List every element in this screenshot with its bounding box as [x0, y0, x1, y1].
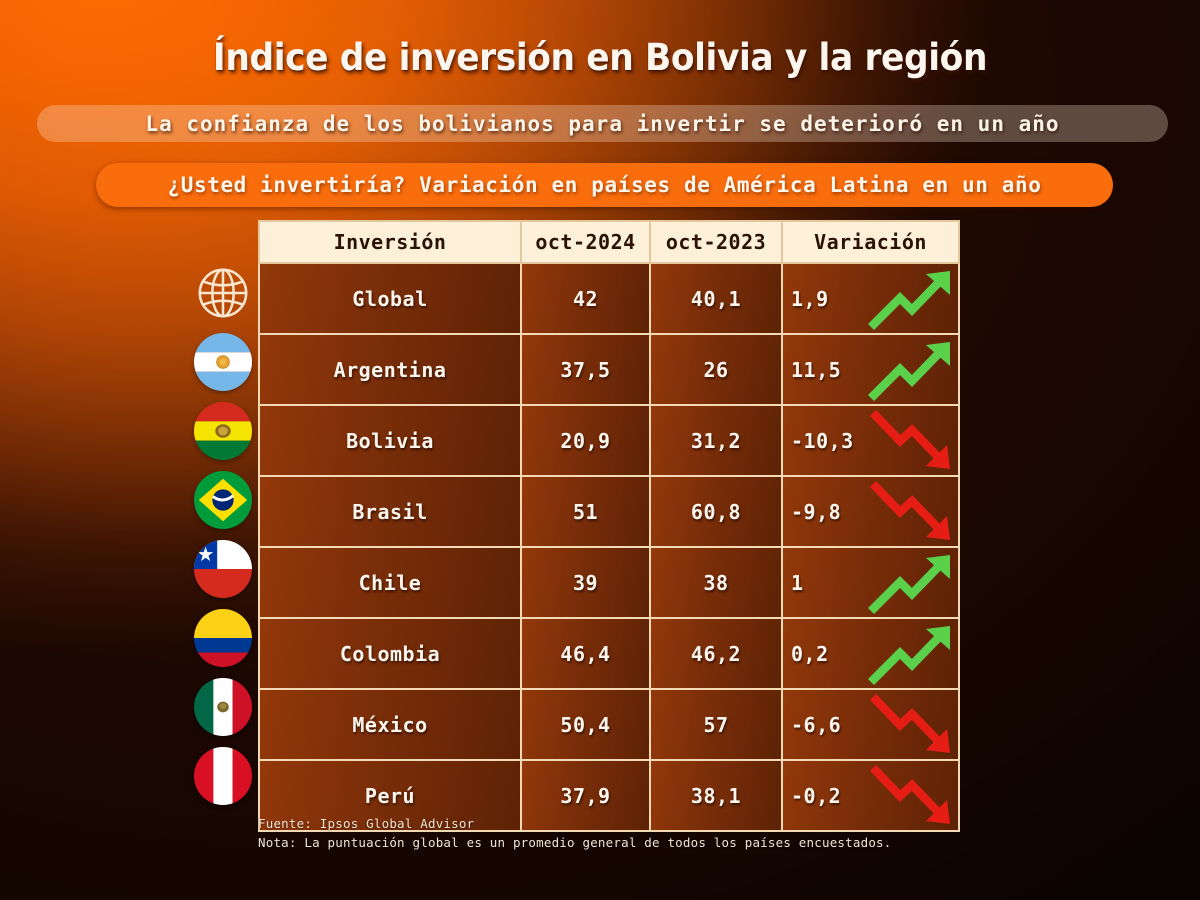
flag-bolivia-icon — [194, 402, 252, 460]
cell-country-name: Argentina — [259, 334, 521, 405]
trend-up-arrow — [866, 268, 956, 330]
cell-variation: 0,2 — [782, 618, 959, 689]
column-header-oct-2023: oct-2023 — [650, 221, 782, 263]
table-row: Argentina37,52611,5 — [259, 334, 959, 405]
flag-mexico-icon — [194, 678, 252, 736]
flag-brasil-icon — [194, 471, 252, 529]
cell-value-oct-2023: 57 — [650, 689, 782, 760]
trend-up-arrow — [866, 339, 956, 401]
cell-country-name: Colombia — [259, 618, 521, 689]
cell-value-oct-2023: 38 — [650, 547, 782, 618]
table-header: Inversión oct-2024 oct-2023 Variación — [259, 221, 959, 263]
flag-chile-icon — [194, 540, 252, 598]
trend-down-arrow — [866, 481, 956, 543]
cell-country-name: Bolivia — [259, 405, 521, 476]
flag-column — [189, 258, 257, 810]
flag-slot — [189, 258, 257, 327]
flag-slot — [189, 327, 257, 396]
variation-content: -10,3 — [791, 406, 958, 475]
trend-up-arrow — [866, 623, 956, 685]
cell-value-oct-2024: 51 — [521, 476, 650, 547]
infographic-canvas: Índice de inversión en Bolivia y la regi… — [0, 0, 1200, 900]
trend-down-icon — [866, 410, 956, 472]
cell-value-oct-2024: 46,4 — [521, 618, 650, 689]
cell-variation: 1,9 — [782, 263, 959, 334]
cell-value-oct-2024: 20,9 — [521, 405, 650, 476]
variation-content: -9,8 — [791, 477, 958, 546]
cell-country-name: Global — [259, 263, 521, 334]
variation-content: 11,5 — [791, 335, 958, 404]
variation-value: -0,2 — [791, 784, 841, 808]
cell-value-oct-2024: 39 — [521, 547, 650, 618]
trend-up-icon — [866, 552, 956, 614]
trend-up-icon — [866, 339, 956, 401]
flag-slot — [189, 672, 257, 741]
cell-value-oct-2023: 31,2 — [650, 405, 782, 476]
variation-content: 1 — [791, 548, 958, 617]
variation-value: 0,2 — [791, 642, 829, 666]
trend-up-icon — [866, 268, 956, 330]
column-header-oct-2024: oct-2024 — [521, 221, 650, 263]
flag-argentina-icon — [194, 333, 252, 391]
investment-table: Inversión oct-2024 oct-2023 Variación Gl… — [258, 220, 960, 832]
variation-value: -9,8 — [791, 500, 841, 524]
column-header-investment: Inversión — [259, 221, 521, 263]
cell-value-oct-2024: 50,4 — [521, 689, 650, 760]
cell-value-oct-2023: 60,8 — [650, 476, 782, 547]
flag-slot — [189, 465, 257, 534]
subtitle-banner: La confianza de los bolivianos para inve… — [37, 105, 1168, 142]
cell-variation: 11,5 — [782, 334, 959, 405]
cell-value-oct-2023: 46,2 — [650, 618, 782, 689]
cell-value-oct-2024: 37,5 — [521, 334, 650, 405]
table-row: Brasil5160,8-9,8 — [259, 476, 959, 547]
flag-peru-icon — [194, 747, 252, 805]
variation-value: -6,6 — [791, 713, 841, 737]
flag-slot — [189, 396, 257, 465]
flag-slot — [189, 534, 257, 603]
cell-variation: -9,8 — [782, 476, 959, 547]
trend-down-icon — [866, 481, 956, 543]
trend-up-arrow — [866, 552, 956, 614]
cell-value-oct-2023: 40,1 — [650, 263, 782, 334]
cell-country-name: Brasil — [259, 476, 521, 547]
trend-down-arrow — [866, 694, 956, 756]
footer-source: Fuente: Ipsos Global Advisor — [258, 814, 892, 833]
table-row: Chile39381 — [259, 547, 959, 618]
table-row: México50,457-6,6 — [259, 689, 959, 760]
question-banner: ¿Usted invertiría? Variación en países d… — [96, 163, 1113, 207]
trend-down-icon — [866, 694, 956, 756]
variation-value: -10,3 — [791, 429, 854, 453]
table-header-row: Inversión oct-2024 oct-2023 Variación — [259, 221, 959, 263]
footer-note: Nota: La puntuación global es un promedi… — [258, 833, 892, 852]
table-body: Global4240,11,9Argentina37,52611,5Bolivi… — [259, 263, 959, 831]
flag-slot — [189, 603, 257, 672]
footer-notes: Fuente: Ipsos Global Advisor Nota: La pu… — [258, 814, 892, 853]
cell-variation: -10,3 — [782, 405, 959, 476]
table-row: Global4240,11,9 — [259, 263, 959, 334]
variation-value: 1 — [791, 571, 804, 595]
cell-variation: -6,6 — [782, 689, 959, 760]
page-title: Índice de inversión en Bolivia y la regi… — [42, 36, 1158, 79]
cell-value-oct-2024: 42 — [521, 263, 650, 334]
variation-value: 1,9 — [791, 287, 829, 311]
table-row: Bolivia20,931,2-10,3 — [259, 405, 959, 476]
globe-icon — [194, 264, 252, 322]
flag-slot — [189, 741, 257, 810]
cell-value-oct-2023: 26 — [650, 334, 782, 405]
cell-country-name: Chile — [259, 547, 521, 618]
flag-colombia-icon — [194, 609, 252, 667]
cell-variation: 1 — [782, 547, 959, 618]
variation-content: 0,2 — [791, 619, 958, 688]
column-header-variation: Variación — [782, 221, 959, 263]
trend-up-icon — [866, 623, 956, 685]
cell-country-name: México — [259, 689, 521, 760]
variation-content: 1,9 — [791, 264, 958, 333]
table-row: Colombia46,446,20,2 — [259, 618, 959, 689]
variation-value: 11,5 — [791, 358, 841, 382]
variation-content: -6,6 — [791, 690, 958, 759]
trend-down-arrow — [866, 410, 956, 472]
